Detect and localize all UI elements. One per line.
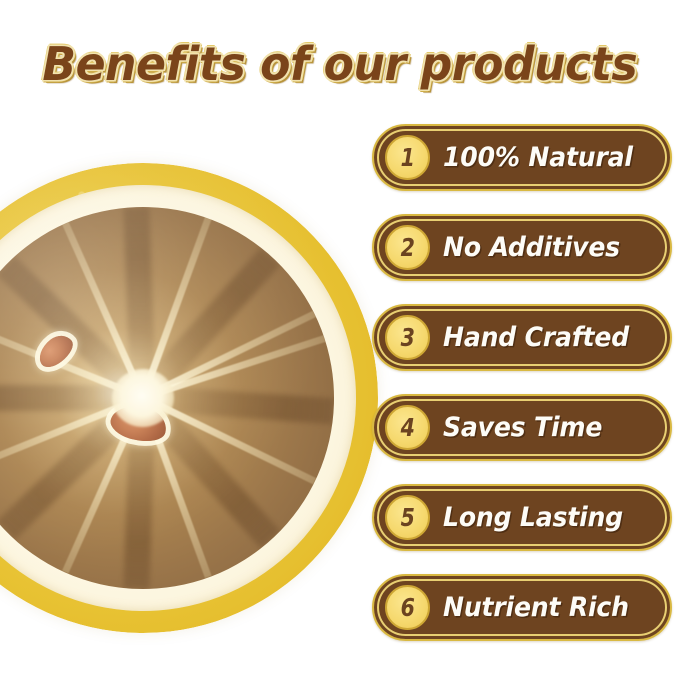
benefit-item-2[interactable]: 2 No Additives <box>372 214 672 281</box>
benefits-list: 1 100% Natural 2 No Additives 3 Hand Cra… <box>372 124 672 641</box>
benefit-number-badge: 4 <box>385 405 430 450</box>
benefit-item-3[interactable]: 3 Hand Crafted <box>372 304 672 371</box>
benefit-item-6[interactable]: 6 Nutrient Rich <box>372 574 672 641</box>
benefit-number: 3 <box>400 325 414 350</box>
benefit-number-badge: 6 <box>385 585 430 630</box>
page-title-text: Benefits of our products <box>42 37 637 91</box>
benefit-number: 5 <box>400 505 414 530</box>
benefit-number-badge: 1 <box>385 135 430 180</box>
benefit-label: 100% Natural <box>443 142 633 173</box>
benefit-number: 1 <box>400 145 414 170</box>
benefit-number: 6 <box>400 595 414 620</box>
benefit-item-4[interactable]: 4 Saves Time <box>372 394 672 461</box>
benefit-label: Long Lasting <box>443 502 623 533</box>
lemon-slice-image <box>0 147 394 649</box>
benefit-label: Hand Crafted <box>443 322 629 353</box>
benefit-label: Nutrient Rich <box>443 592 629 623</box>
benefit-number-badge: 3 <box>385 315 430 360</box>
benefit-label: No Additives <box>443 232 620 263</box>
promo-banner: Benefits of our products <box>0 0 679 679</box>
benefit-item-5[interactable]: 5 Long Lasting <box>372 484 672 551</box>
benefit-number: 4 <box>400 415 414 440</box>
page-title: Benefits of our products <box>0 28 679 100</box>
benefit-label: Saves Time <box>443 412 602 443</box>
benefit-number: 2 <box>400 235 414 260</box>
benefit-number-badge: 5 <box>385 495 430 540</box>
benefit-number-badge: 2 <box>385 225 430 270</box>
benefit-item-1[interactable]: 1 100% Natural <box>372 124 672 191</box>
